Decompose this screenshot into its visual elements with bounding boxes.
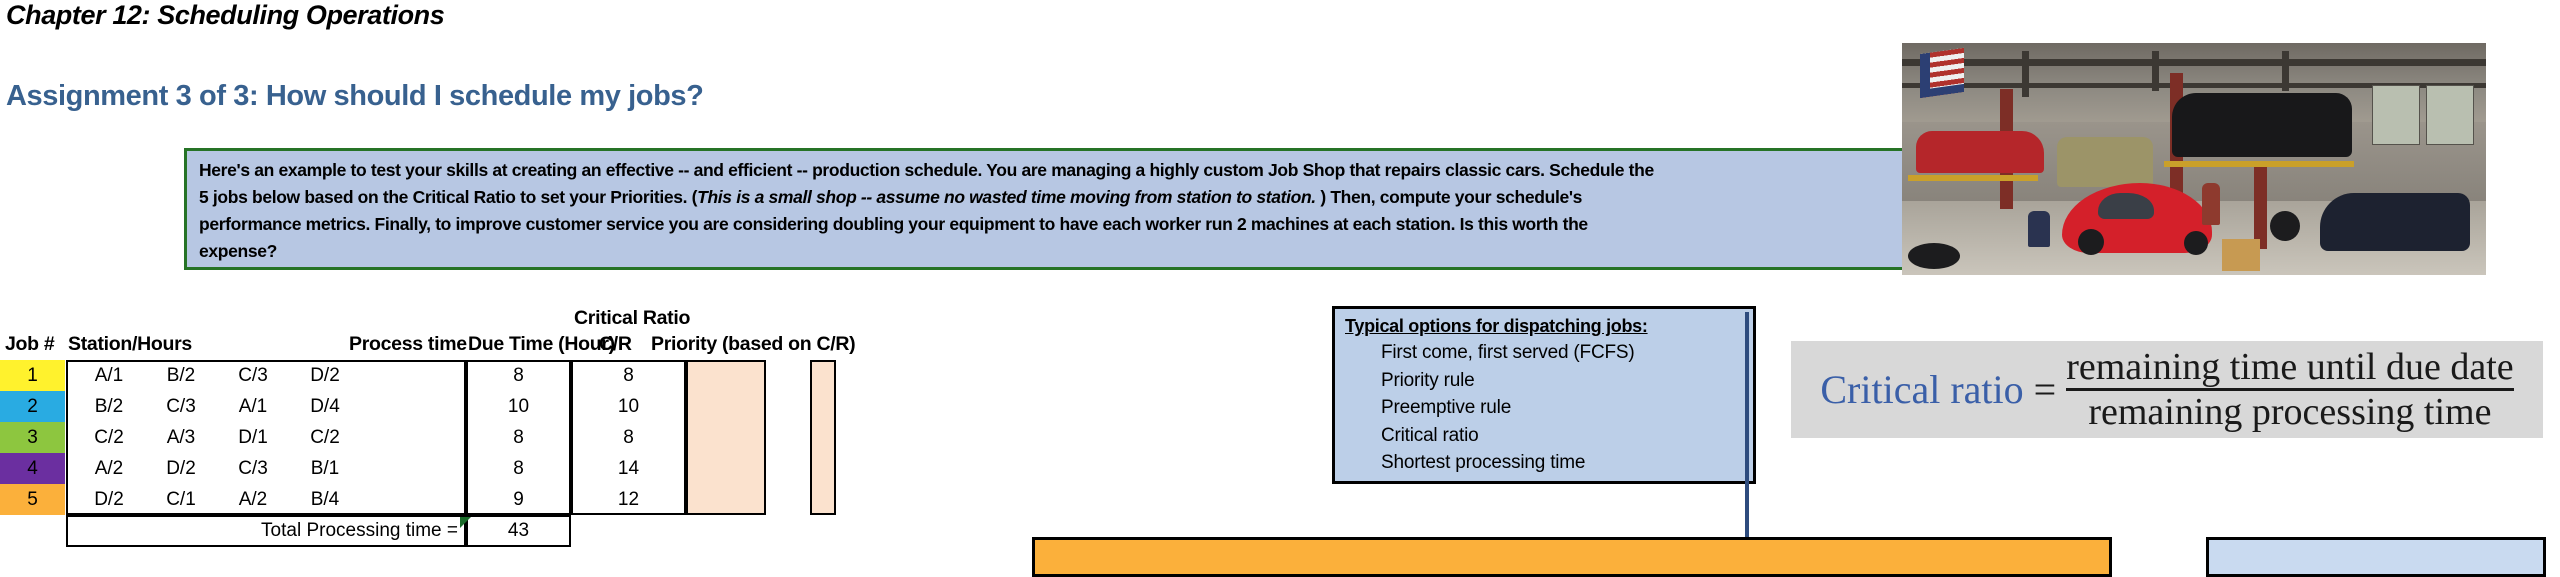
station-hours-cell: D/2 [294,360,356,391]
priority-input-cell[interactable] [810,360,836,391]
prompt-line-2-a: 5 jobs below based on the Critical Ratio… [199,187,697,207]
priority-input-cell[interactable] [810,484,836,515]
process-time-cell: 10 [466,391,571,422]
dispatch-options-list: First come, first served (FCFS)Priority … [1345,339,1745,477]
dispatch-option-item[interactable]: Priority rule [1381,367,1745,395]
photo-crate [2222,239,2260,271]
total-processing-label: Total Processing time = [66,515,458,547]
prompt-line-2-italic: This is a small shop -- assume no wasted… [697,187,1316,207]
process-time-cell: 8 [466,360,571,391]
formula-label: Critical ratio [1820,366,2023,413]
station-hours-cell: A/2 [222,484,284,515]
col-header-priority: Priority (based on C/R) [651,333,855,356]
photo-lift [2164,161,2354,167]
station-hours-cell: B/2 [150,360,212,391]
photo-worker [2202,183,2220,225]
station-hours-cell: C/3 [222,360,284,391]
photo-car-dark [2320,193,2470,251]
section-divider [1745,312,1749,552]
station-hours-cell: B/4 [294,484,356,515]
page-title: Chapter 12: Scheduling Operations [6,0,444,31]
photo-tire-stack [1908,243,1960,269]
jobs-table: Job # Station/Hours Process time Due Tim… [0,305,1090,360]
station-hours-cell: C/2 [78,422,140,453]
dispatch-option-item[interactable]: Critical ratio [1381,422,1745,450]
job-number-swatch: 2 [0,391,65,422]
assignment-prompt-box: Here's an example to test your skills at… [184,148,1928,270]
photo-beam [2022,51,2029,97]
priority-input-cell[interactable] [810,391,836,422]
station-hours-cell: A/3 [150,422,212,453]
dispatch-options-title: Typical options for dispatching jobs: [1345,313,1745,339]
formula-denominator: remaining processing time [2088,391,2491,433]
prompt-line-1: Here's an example to test your skills at… [199,157,1915,184]
table-body: 1A/1B/2C/3D/2882B/2C/3A/1D/410103C/2A/3D… [0,360,1090,575]
station-hours-cell: D/4 [294,391,356,422]
cr-input-cell[interactable] [686,422,766,453]
total-processing-value: 43 [466,515,571,547]
cr-input-cell[interactable] [686,360,766,391]
job-number-swatch: 4 [0,453,65,484]
auto-repair-shop-photo [1902,43,2486,275]
job-number-swatch: 1 [0,360,65,391]
due-time-cell: 10 [571,391,686,422]
col-header-station: Station/Hours [68,333,192,356]
bottom-blue-panel[interactable] [2206,537,2546,577]
station-hours-cell: A/2 [78,453,140,484]
col-header-cr: C/R [599,333,632,356]
assignment-heading: Assignment 3 of 3: How should I schedule… [6,80,703,113]
process-time-cell: 8 [466,453,571,484]
dispatch-option-item[interactable]: Preemptive rule [1381,394,1745,422]
photo-tire [2270,211,2300,241]
prompt-line-2: 5 jobs below based on the Critical Ratio… [199,184,1915,211]
priority-input-cell[interactable] [810,422,836,453]
bottom-orange-panel[interactable] [1032,537,2112,577]
formula-fraction: remaining time until due date remaining … [2066,346,2513,433]
photo-post [2254,161,2267,249]
station-hours-cell: D/1 [222,422,284,453]
col-header-job: Job # [5,333,54,356]
station-hours-cell: B/2 [78,391,140,422]
formula-numerator: remaining time until due date [2066,346,2513,388]
formula-equals: = [2034,366,2057,413]
process-time-cell: 8 [466,422,571,453]
station-hours-cell: C/1 [150,484,212,515]
station-hours-cell: A/1 [222,391,284,422]
job-number-swatch: 3 [0,422,65,453]
dispatch-option-item[interactable]: First come, first served (FCFS) [1381,339,1745,367]
photo-beam [2282,51,2289,91]
photo-beam [1902,59,2486,66]
prompt-line-4: expense? [199,238,1915,265]
due-time-cell: 8 [571,360,686,391]
cr-input-cell[interactable] [686,453,766,484]
photo-worker [2028,211,2050,247]
station-hours-cell: D/2 [150,453,212,484]
photo-car-black-lifted [2172,93,2352,157]
cr-input-cell[interactable] [686,484,766,515]
prompt-line-3: performance metrics. Finally, to improve… [199,211,1915,238]
cr-input-cell[interactable] [686,391,766,422]
station-hours-cell: C/2 [294,422,356,453]
due-time-cell: 14 [571,453,686,484]
photo-flag [1920,48,1964,98]
photo-tire [2184,231,2208,255]
station-hours-cell: D/2 [78,484,140,515]
photo-car-tan [2057,137,2153,187]
priority-input-cell[interactable] [810,453,836,484]
due-time-cell: 8 [571,422,686,453]
photo-window [2372,85,2420,145]
due-time-cell: 12 [571,484,686,515]
station-hours-cell: B/1 [294,453,356,484]
photo-window [2426,85,2474,145]
dispatch-options-box: Typical options for dispatching jobs: Fi… [1332,306,1756,484]
dispatch-option-item[interactable]: Shortest processing time [1381,449,1745,477]
photo-beetle-window [2098,193,2154,219]
photo-car-red-lifted [1916,131,2044,173]
photo-lift [1908,175,2038,181]
table-header-row: Job # Station/Hours Process time Due Tim… [0,305,1090,360]
photo-tire [2078,229,2104,255]
photo-beam [2152,51,2159,91]
critical-ratio-formula: Critical ratio = remaining time until du… [1791,341,2543,438]
col-header-due: Due Time (Hour) [468,333,615,356]
prompt-line-2-b: ) Then, compute your schedule's [1316,187,1582,207]
col-header-process: Process time [349,333,467,356]
job-number-swatch: 5 [0,484,65,515]
station-hours-cell: C/3 [150,391,212,422]
station-hours-cell: A/1 [78,360,140,391]
station-hours-cell: C/3 [222,453,284,484]
process-time-cell: 9 [466,484,571,515]
col-header-cr-group: Critical Ratio [574,307,690,330]
